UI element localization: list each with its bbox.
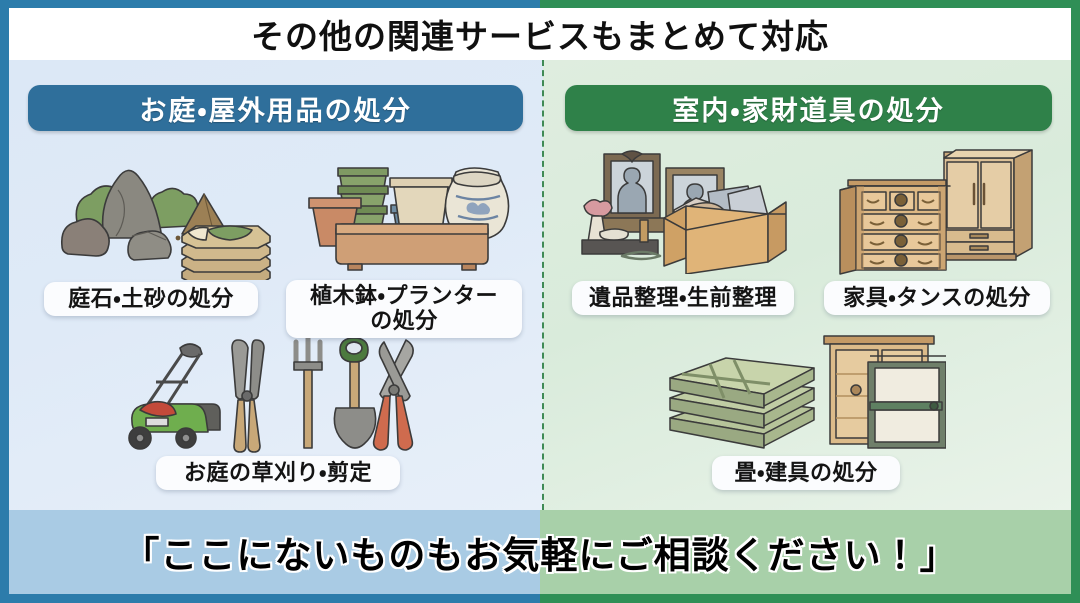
- frame-edge-left: [0, 0, 9, 603]
- frame-edge-right: [1071, 0, 1080, 603]
- flower-pots-and-planter-illustration: [296, 150, 524, 275]
- footer-text: 「ここにないものもお気軽にご相談ください！」: [9, 510, 1071, 594]
- frame-edge-top-left: [0, 0, 540, 8]
- item-label-pots-text: 植木鉢・プランター の処分: [310, 284, 498, 333]
- item-label-estate-text: 遺品整理・生前整理: [589, 286, 777, 311]
- frame-edge-top-right: [540, 0, 1080, 8]
- item-label-mowing: お庭の草刈り・剪定: [156, 456, 400, 490]
- memorial-photo-and-packing-box-illustration: [578, 148, 790, 274]
- item-label-tatami-text: 畳・建具の処分: [735, 461, 878, 486]
- item-label-stones-text: 庭石・土砂の処分: [68, 287, 233, 312]
- chest-of-drawers-and-wardrobe-illustration: [834, 142, 1042, 282]
- section-heading-outdoor-label: お庭・屋外用品の処分: [139, 89, 411, 128]
- footer-banner: 「ここにないものもお気軽にご相談ください！」: [9, 510, 1071, 594]
- page-title: その他の関連サービスもまとめて対応: [251, 10, 829, 58]
- lawnmower-and-garden-tools-illustration: [126, 334, 416, 456]
- item-label-pots: 植木鉢・プランター の処分: [286, 280, 522, 338]
- item-label-furniture: 家具・タンスの処分: [824, 281, 1050, 315]
- item-label-furniture-text: 家具・タンスの処分: [843, 286, 1031, 311]
- frame-edge-bottom-left: [0, 594, 540, 603]
- section-heading-indoor: 室内・家財道具の処分: [565, 85, 1052, 131]
- panel-divider: [542, 60, 544, 510]
- tatami-mats-and-fittings-illustration: [666, 332, 946, 458]
- item-label-tatami: 畳・建具の処分: [712, 456, 900, 490]
- title-banner: その他の関連サービスもまとめて対応: [9, 8, 1071, 60]
- infographic-root: その他の関連サービスもまとめて対応 お庭・屋外用品の処分 室内・家財道具の処分: [0, 0, 1080, 603]
- section-heading-indoor-label: 室内・家財道具の処分: [672, 89, 944, 128]
- section-heading-outdoor: お庭・屋外用品の処分: [28, 85, 523, 131]
- frame-edge-bottom-right: [540, 594, 1080, 603]
- garden-stones-and-soil-bags-illustration: [32, 150, 282, 280]
- item-label-mowing-text: お庭の草刈り・剪定: [184, 461, 372, 486]
- item-label-estate: 遺品整理・生前整理: [572, 281, 794, 315]
- item-label-stones: 庭石・土砂の処分: [44, 282, 258, 316]
